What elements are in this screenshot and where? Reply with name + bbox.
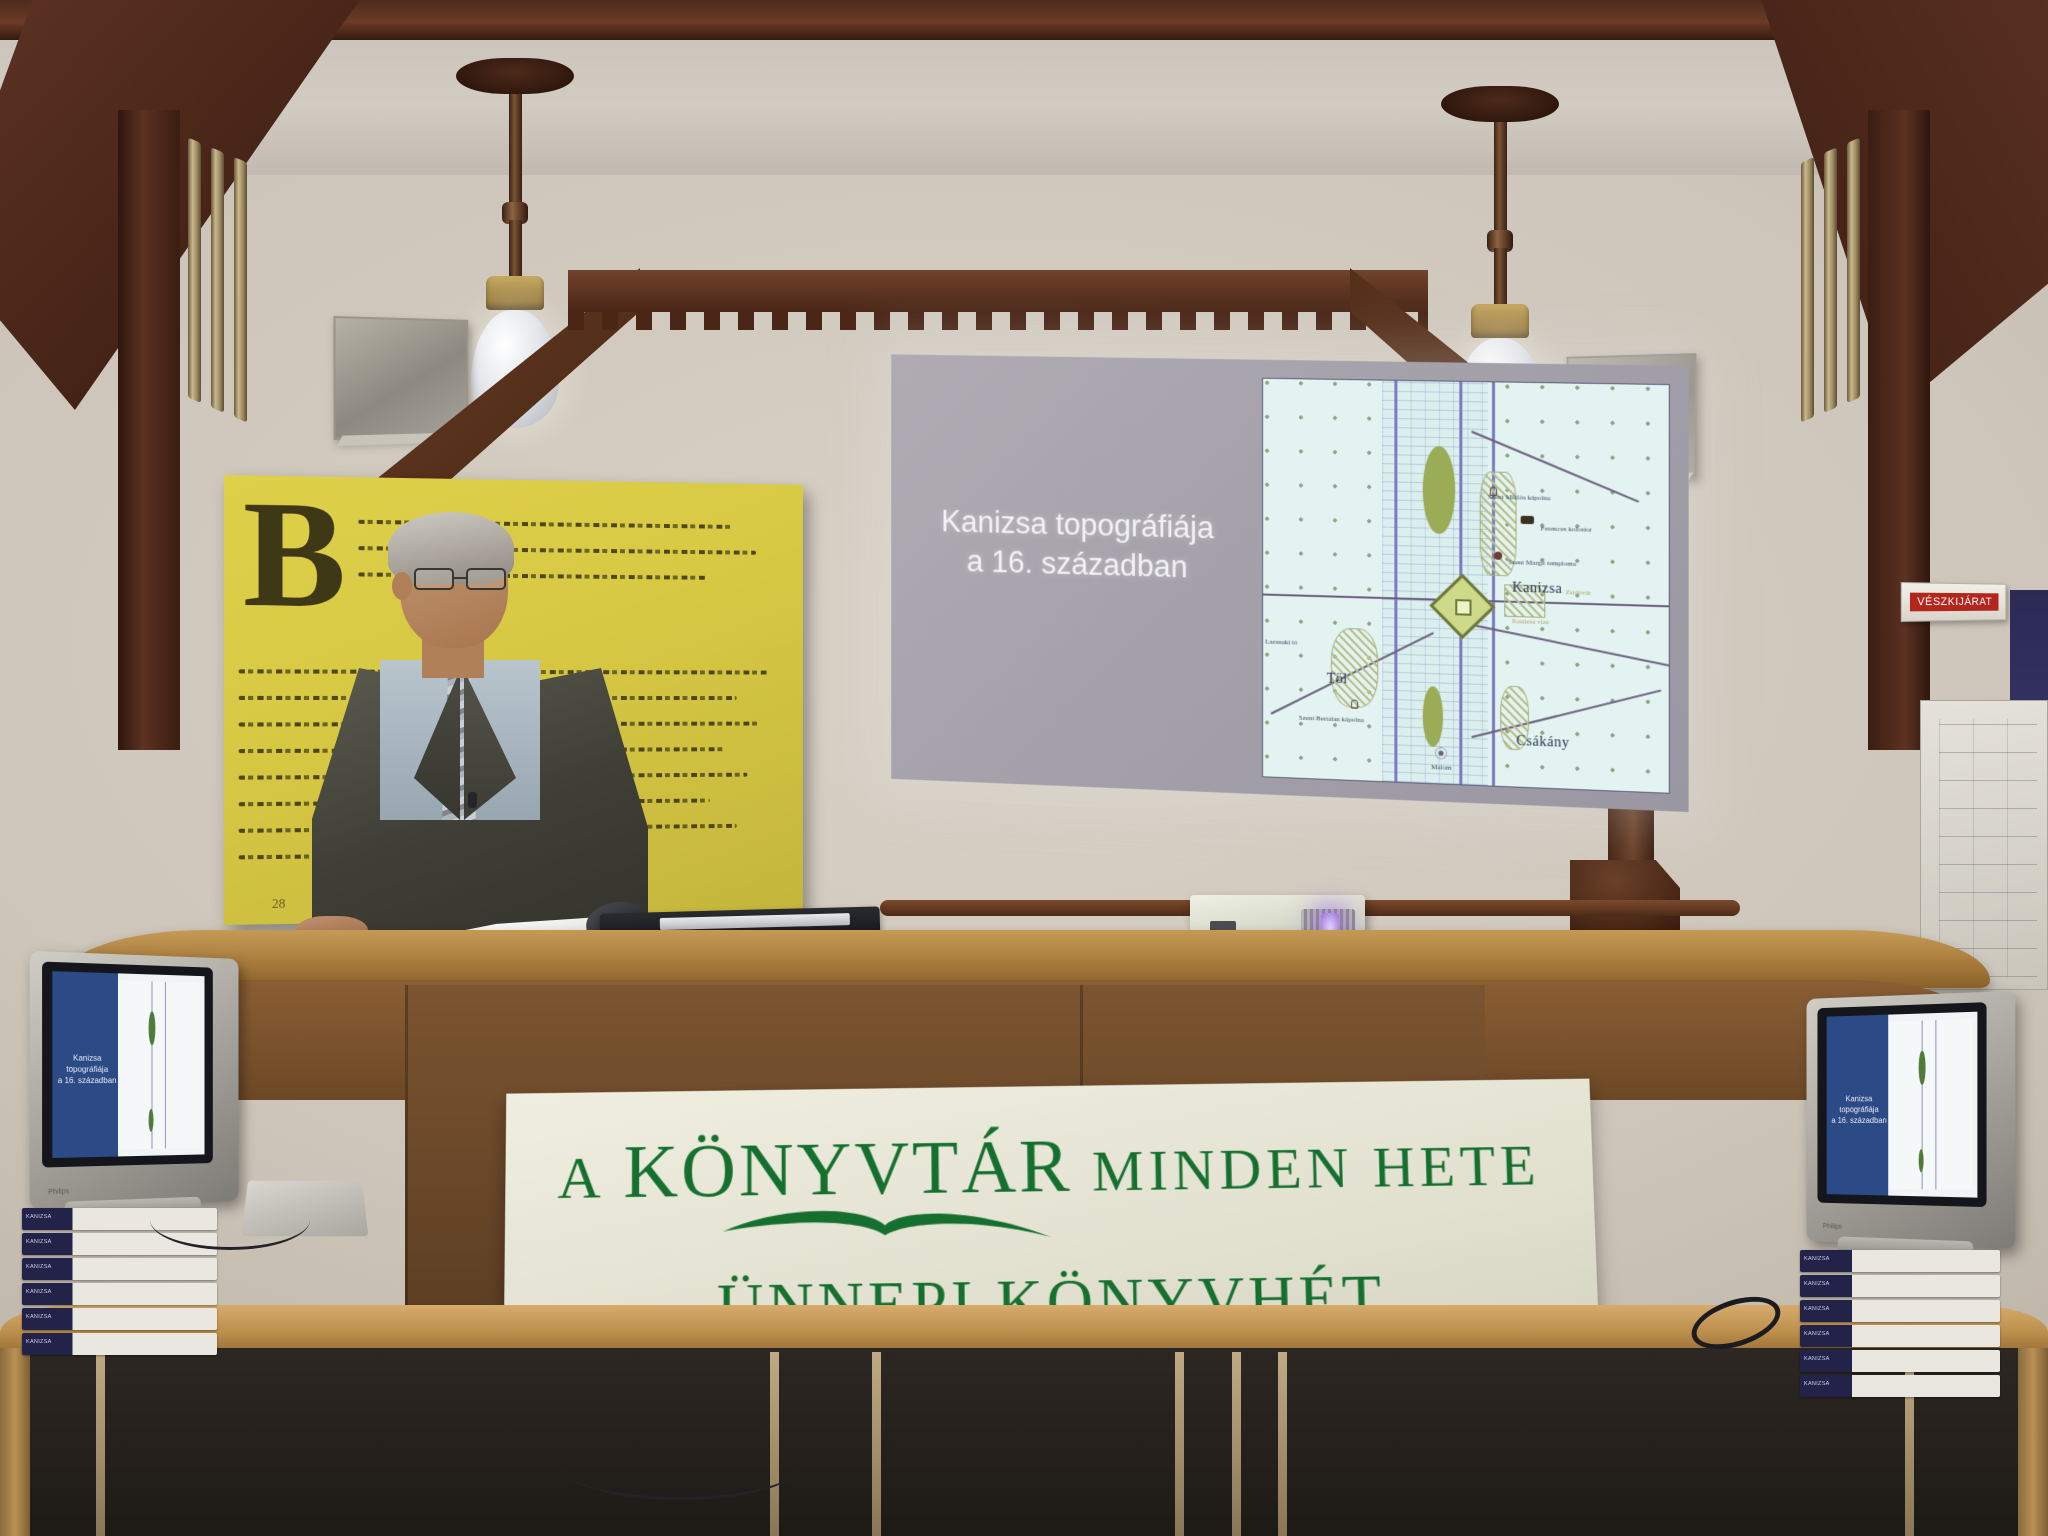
map-church-margit-icon — [1494, 552, 1502, 560]
counter-divider-3 — [872, 1352, 881, 1536]
map-label-ferences-kolostor: Ferences kolostor — [1541, 525, 1592, 534]
book-item: KANIZSA — [22, 1333, 217, 1355]
lecture-hall-photo: Kanizsa topográfiája a 16. században — [0, 0, 2048, 1536]
map-label-malom: Malom — [1431, 763, 1452, 772]
monitor-left-slide-text: Kanizsa topográfiája a 16. században — [57, 1053, 116, 1086]
floor-cable-2 — [560, 1430, 800, 1500]
map-monastery-icon — [1520, 516, 1533, 524]
monitor-left-brand: Philips — [48, 1188, 69, 1196]
slide-title-line2: a 16. században — [918, 541, 1238, 590]
map-fortress-keep — [1455, 599, 1471, 616]
map-river-east — [1492, 382, 1495, 785]
slide-map: Kanizsa Töl Csákány Szent Miklós kápolna… — [1262, 378, 1670, 794]
wood-post-right — [1868, 110, 1930, 750]
counter-leg-left — [0, 1348, 30, 1536]
eyeglasses-icon — [414, 568, 510, 592]
monitor-right-map — [1888, 1019, 1972, 1190]
counter-leg-right — [2018, 1348, 2048, 1536]
speaker-person — [318, 520, 648, 940]
book-item: KANIZSA — [1800, 1350, 2000, 1372]
map-river-west — [1395, 381, 1398, 782]
lapel-microphone-icon — [468, 792, 477, 808]
desk-seam-left — [405, 985, 408, 1305]
book-item: KANIZSA — [22, 1258, 217, 1280]
map-island-south — [1423, 686, 1443, 747]
ceiling-rose-left — [456, 58, 574, 94]
monitor-right: Kanizsa topográfiája a 16. században Phi… — [1806, 991, 2015, 1249]
counter-divider-6 — [1278, 1352, 1287, 1536]
manuscript-page-number: 28 — [272, 896, 285, 913]
map-label-tol: Töl — [1327, 671, 1348, 688]
book-item: KANIZSA — [1800, 1300, 2000, 1322]
map-chapel-bertalan-icon — [1351, 700, 1358, 709]
counter-divider-5 — [1232, 1352, 1241, 1536]
book-item: KANIZSA — [1800, 1325, 2000, 1347]
monitor-right-screen: Kanizsa topográfiája a 16. században — [1827, 1012, 1978, 1198]
book-item: KANIZSA — [1800, 1250, 2000, 1272]
banner-word-a: A — [557, 1145, 604, 1211]
map-label-szent-miklos-kapolna: Szent Miklós kápolna — [1488, 493, 1551, 503]
balusters-right — [1801, 137, 1860, 422]
arch-foot-right — [1570, 860, 1680, 930]
map-label-csakany: Csákány — [1516, 734, 1569, 752]
ceiling-rose-right — [1441, 86, 1559, 122]
monitor-left-screen: Kanizsa topográfiája a 16. században — [52, 971, 204, 1158]
map-label-kanizsa-vize: Kanizsa vize — [1512, 617, 1549, 626]
front-counter-panel — [0, 1348, 2048, 1536]
counter-divider-1 — [96, 1352, 105, 1536]
map-island-north — [1423, 445, 1455, 534]
book-stack-right: KANIZSA KANIZSA KANIZSA KANIZSA KANIZSA … — [1800, 1250, 2000, 1400]
map-label-zsidovar: Zsidóvár — [1565, 588, 1591, 597]
monitor-right-bezel: Kanizsa topográfiája a 16. században — [1817, 1002, 1986, 1207]
emergency-exit-sign: VÉSZKIJÁRAT — [1901, 582, 2006, 622]
book-item: KANIZSA — [22, 1308, 217, 1330]
floor-cable — [150, 1190, 310, 1250]
projection-screen: Kanizsa topográfiája a 16. században — [891, 354, 1688, 812]
map-hatched-west — [1331, 627, 1379, 709]
map-label-lazsnaki-to: Lazsnaki tó — [1265, 637, 1297, 646]
book-item: KANIZSA — [22, 1283, 217, 1305]
balusters-left — [188, 137, 247, 422]
exit-sign-label: VÉSZKIJÁRAT — [1910, 593, 1998, 612]
book-item: KANIZSA — [1800, 1275, 2000, 1297]
slide-title: Kanizsa topográfiája a 16. században — [918, 501, 1238, 589]
monitor-left: Kanizsa topográfiája a 16. században Phi… — [30, 951, 239, 1209]
arch-scallop-trim — [568, 312, 1428, 330]
banner-word-konyvtar: KÖNYVTÁR — [623, 1124, 1073, 1214]
monitor-right-brand: Philips — [1823, 1223, 1842, 1230]
monitor-left-bezel: Kanizsa topográfiája a 16. században — [42, 962, 213, 1168]
monitor-left-map — [118, 981, 200, 1149]
map-label-kanizsa: Kanizsa — [1512, 580, 1562, 598]
monitor-right-slide-text: Kanizsa topográfiája a 16. században — [1831, 1094, 1887, 1126]
speaker-ear — [392, 572, 412, 600]
banner-word-minden-hete: MINDEN HETE — [1092, 1133, 1542, 1204]
wood-post-left — [118, 110, 180, 750]
arch-top-beam — [568, 270, 1428, 312]
open-book-swoosh-icon — [717, 1203, 1057, 1248]
flipchart-grid — [1939, 719, 2037, 977]
book-item: KANIZSA — [1800, 1375, 2000, 1397]
counter-divider-4 — [1175, 1352, 1184, 1536]
